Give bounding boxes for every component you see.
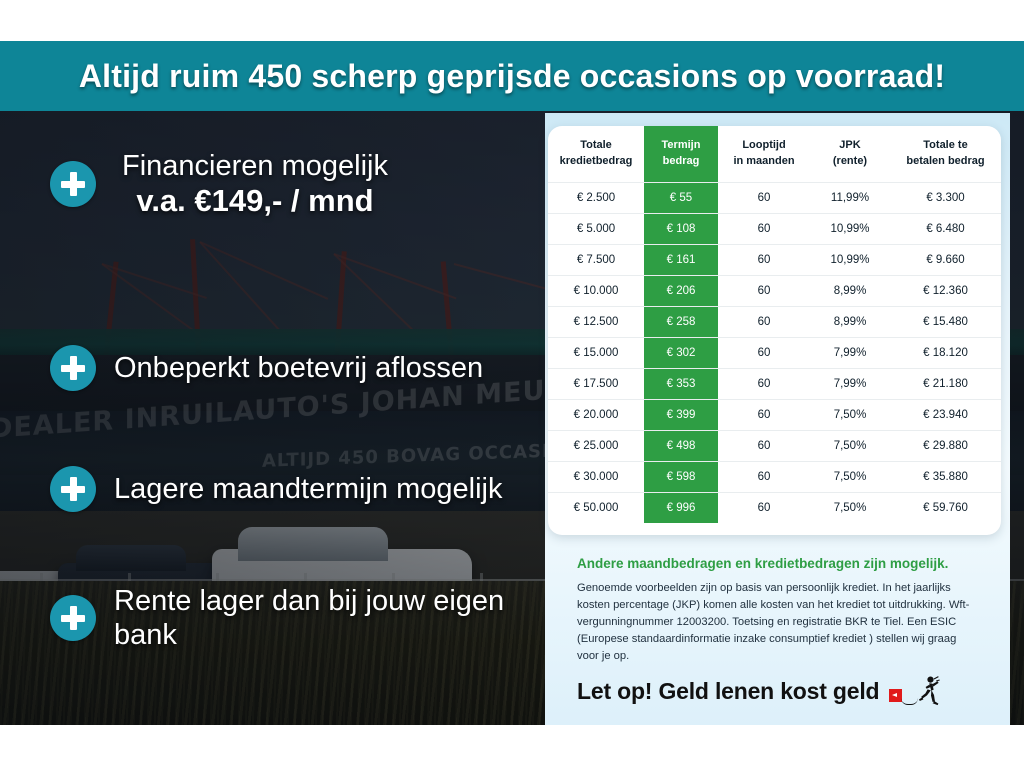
cell-termijn: € 258 — [644, 306, 718, 337]
cell-looptijd: 60 — [718, 368, 810, 399]
cell-looptijd: 60 — [718, 337, 810, 368]
table-row: € 7.500€ 1616010,99%€ 9.660 — [548, 244, 1001, 275]
feature-bullet-aflossen: Onbeperkt boetevrij aflossen — [50, 345, 483, 391]
cell-totaal: € 9.660 — [890, 244, 1001, 275]
cell-krediet: € 7.500 — [548, 244, 644, 275]
cell-termijn: € 206 — [644, 275, 718, 306]
feature-bullet-text: Financieren mogelijk v.a. €149,- / mnd — [122, 149, 388, 220]
cell-looptijd: 60 — [718, 275, 810, 306]
table-header-row: Totale kredietbedrag Termijn bedrag Loop… — [548, 126, 1001, 182]
plus-icon — [50, 345, 96, 391]
cell-termijn: € 399 — [644, 399, 718, 430]
col-header-line2: kredietbedrag — [560, 155, 633, 167]
cell-termijn: € 55 — [644, 182, 718, 213]
warning-text: Let op! Geld lenen kost geld — [577, 678, 879, 705]
cell-jkp: 7,50% — [810, 430, 890, 461]
cell-termijn: € 161 — [644, 244, 718, 275]
col-header-jkp: JPK (rente) — [810, 126, 890, 182]
cell-totaal: € 23.940 — [890, 399, 1001, 430]
cell-looptijd: 60 — [718, 492, 810, 523]
table-row: € 30.000€ 598607,50%€ 35.880 — [548, 461, 1001, 492]
table-row: € 50.000€ 996607,50%€ 59.760 — [548, 492, 1001, 523]
col-header-krediet: Totale kredietbedrag — [548, 126, 644, 182]
cell-termijn: € 996 — [644, 492, 718, 523]
cell-looptijd: 60 — [718, 461, 810, 492]
cell-krediet: € 20.000 — [548, 399, 644, 430]
cell-jkp: 7,99% — [810, 337, 890, 368]
cell-termijn: € 302 — [644, 337, 718, 368]
col-header-line1: Totale te — [923, 139, 967, 151]
cell-totaal: € 59.760 — [890, 492, 1001, 523]
table-row: € 12.500€ 258608,99%€ 15.480 — [548, 306, 1001, 337]
cell-jkp: 10,99% — [810, 213, 890, 244]
finance-info-panel: Totale kredietbedrag Termijn bedrag Loop… — [545, 113, 1010, 725]
cell-termijn: € 108 — [644, 213, 718, 244]
headline-text: Altijd ruim 450 scherp geprijsde occasio… — [79, 58, 945, 95]
cell-jkp: 7,99% — [810, 368, 890, 399]
cell-totaal: € 15.480 — [890, 306, 1001, 337]
plus-icon — [50, 161, 96, 207]
cell-krediet: € 17.500 — [548, 368, 644, 399]
cell-termijn: € 598 — [644, 461, 718, 492]
cell-jkp: 7,50% — [810, 492, 890, 523]
disclaimer-body: Genoemde voorbeelden zijn op basis van p… — [577, 580, 977, 665]
col-header-line2: betalen bedrag — [906, 155, 984, 167]
advertisement-canvas: Altijd ruim 450 scherp geprijsde occasio… — [0, 0, 1024, 768]
col-header-line2: in maanden — [733, 155, 794, 167]
cell-looptijd: 60 — [718, 399, 810, 430]
col-header-line2: (rente) — [833, 155, 867, 167]
col-header-line1: Totale — [580, 139, 612, 151]
cell-jkp: 11,99% — [810, 182, 890, 213]
cell-jkp: 7,50% — [810, 461, 890, 492]
rates-table: Totale kredietbedrag Termijn bedrag Loop… — [548, 126, 1001, 523]
cell-jkp: 10,99% — [810, 244, 890, 275]
cell-looptijd: 60 — [718, 213, 810, 244]
cell-totaal: € 3.300 — [890, 182, 1001, 213]
col-header-line1: Looptijd — [742, 139, 785, 151]
table-row: € 17.500€ 353607,99%€ 21.180 — [548, 368, 1001, 399]
cell-totaal: € 21.180 — [890, 368, 1001, 399]
feature-bullet-list: Financieren mogelijk v.a. €149,- / mnd O… — [0, 111, 545, 725]
col-header-looptijd: Looptijd in maanden — [718, 126, 810, 182]
afm-running-man-icon — [889, 676, 941, 706]
col-header-line2: bedrag — [663, 155, 700, 167]
warning-line: Let op! Geld lenen kost geld — [577, 676, 941, 706]
feature-bullet-text: Lagere maandtermijn mogelijk — [114, 472, 502, 506]
col-header-termijn: Termijn bedrag — [644, 126, 718, 182]
feature-bullet-line2: v.a. €149,- / mnd — [122, 183, 388, 220]
cell-krediet: € 10.000 — [548, 275, 644, 306]
cell-krediet: € 25.000 — [548, 430, 644, 461]
col-header-line1: Termijn — [662, 139, 701, 151]
plus-icon — [50, 466, 96, 512]
cell-totaal: € 18.120 — [890, 337, 1001, 368]
cell-looptijd: 60 — [718, 430, 810, 461]
table-row: € 15.000€ 302607,99%€ 18.120 — [548, 337, 1001, 368]
rates-table-card: Totale kredietbedrag Termijn bedrag Loop… — [548, 126, 1001, 535]
cell-jkp: 8,99% — [810, 275, 890, 306]
table-row: € 25.000€ 498607,50%€ 29.880 — [548, 430, 1001, 461]
rates-table-body: € 2.500€ 556011,99%€ 3.300€ 5.000€ 10860… — [548, 182, 1001, 523]
table-row: € 20.000€ 399607,50%€ 23.940 — [548, 399, 1001, 430]
feature-bullet-maandtermijn: Lagere maandtermijn mogelijk — [50, 466, 502, 512]
feature-bullet-financieren: Financieren mogelijk v.a. €149,- / mnd — [50, 149, 388, 220]
table-row: € 10.000€ 206608,99%€ 12.360 — [548, 275, 1001, 306]
cell-krediet: € 2.500 — [548, 182, 644, 213]
cell-krediet: € 5.000 — [548, 213, 644, 244]
disclaimer-block: Andere maandbedragen en kredietbedragen … — [577, 556, 977, 665]
cell-looptijd: 60 — [718, 244, 810, 275]
cell-totaal: € 29.880 — [890, 430, 1001, 461]
cell-jkp: 8,99% — [810, 306, 890, 337]
cell-krediet: € 50.000 — [548, 492, 644, 523]
table-row: € 2.500€ 556011,99%€ 3.300 — [548, 182, 1001, 213]
col-header-totaal: Totale te betalen bedrag — [890, 126, 1001, 182]
cell-totaal: € 35.880 — [890, 461, 1001, 492]
feature-bullet-text: Onbeperkt boetevrij aflossen — [114, 351, 483, 385]
feature-bullet-rente: Rente lager dan bij jouw eigen bank — [50, 584, 545, 652]
cell-krediet: € 12.500 — [548, 306, 644, 337]
cell-krediet: € 15.000 — [548, 337, 644, 368]
disclaimer-title: Andere maandbedragen en kredietbedragen … — [577, 556, 977, 571]
table-row: € 5.000€ 1086010,99%€ 6.480 — [548, 213, 1001, 244]
cell-krediet: € 30.000 — [548, 461, 644, 492]
feature-bullet-text: Rente lager dan bij jouw eigen bank — [114, 584, 545, 652]
cell-termijn: € 353 — [644, 368, 718, 399]
running-man-glyph — [916, 676, 940, 706]
col-header-line1: JPK — [839, 139, 860, 151]
cell-jkp: 7,50% — [810, 399, 890, 430]
cell-looptijd: 60 — [718, 182, 810, 213]
cell-totaal: € 6.480 — [890, 213, 1001, 244]
cell-totaal: € 12.360 — [890, 275, 1001, 306]
feature-bullet-line1: Financieren mogelijk — [122, 149, 388, 183]
plus-icon — [50, 595, 96, 641]
cell-termijn: € 498 — [644, 430, 718, 461]
headline-banner: Altijd ruim 450 scherp geprijsde occasio… — [0, 41, 1024, 111]
cell-looptijd: 60 — [718, 306, 810, 337]
